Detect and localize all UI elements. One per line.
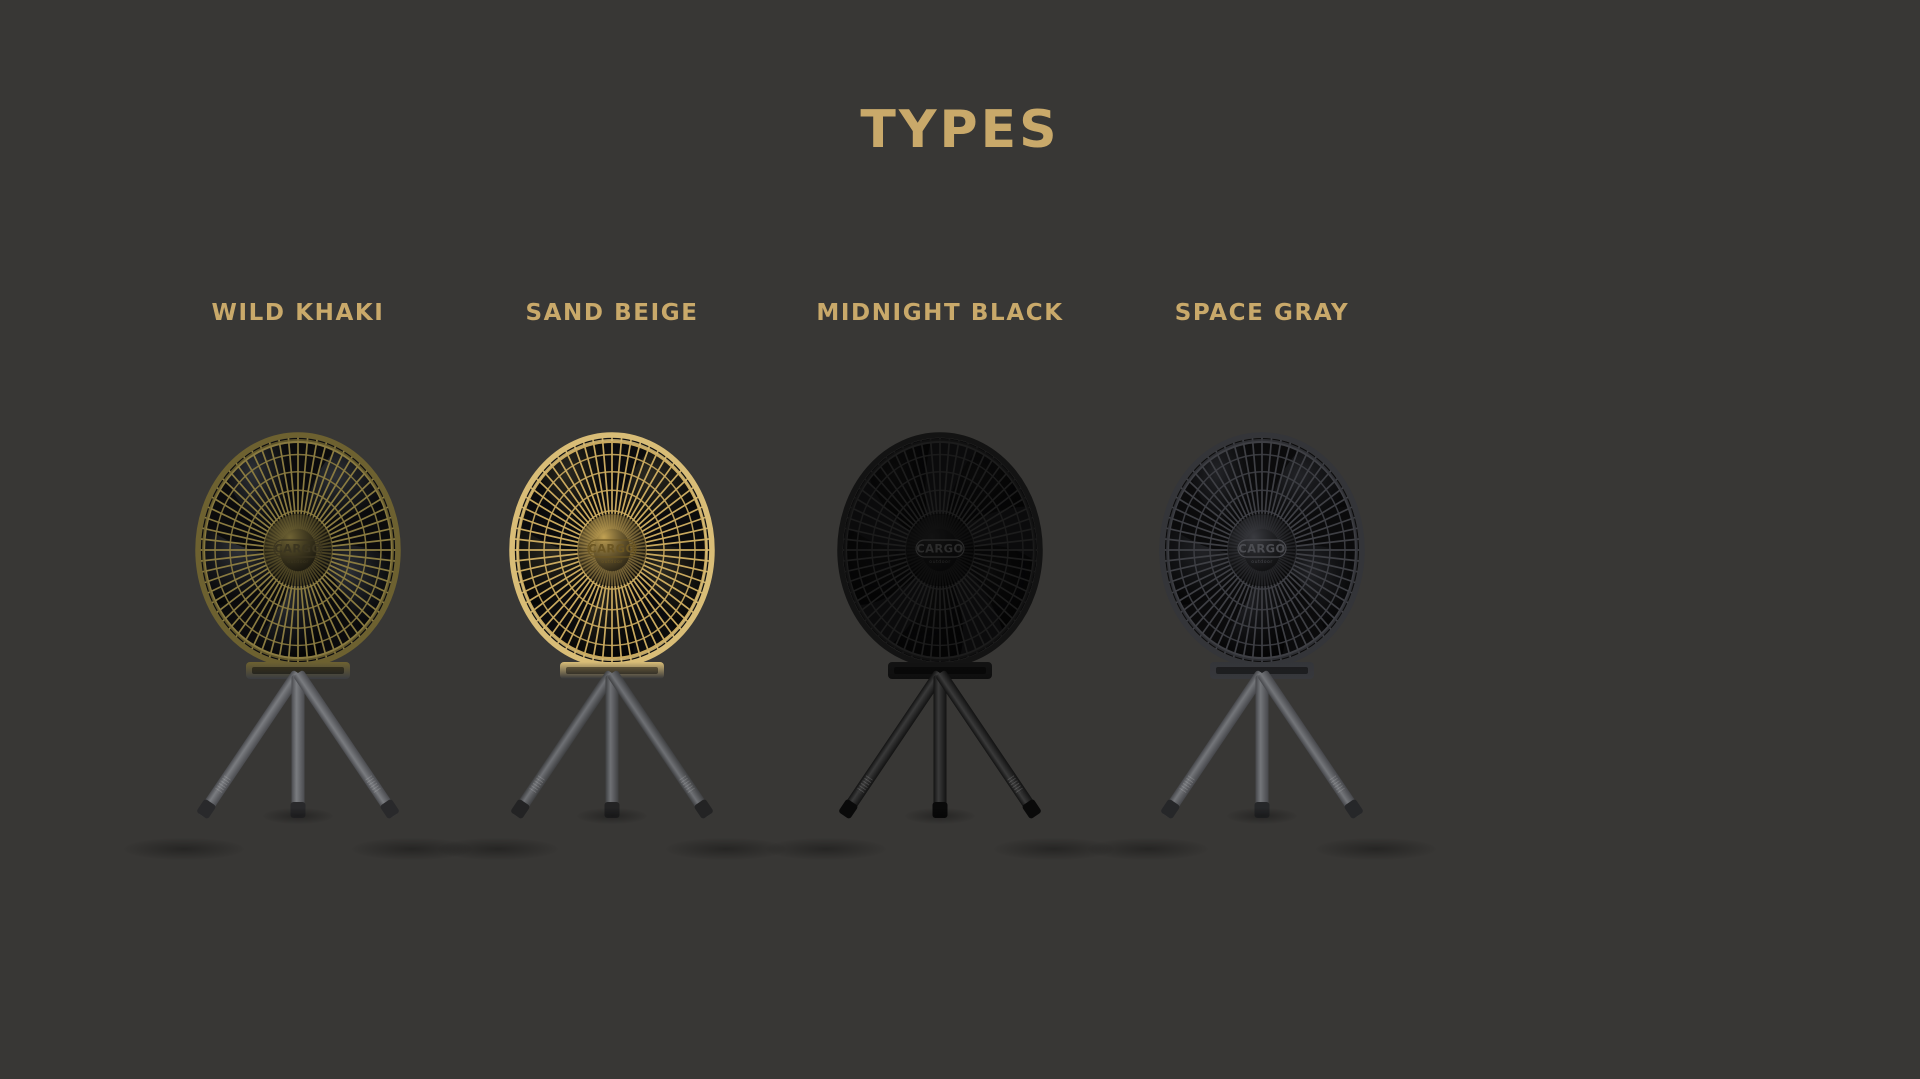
tripod-foot xyxy=(291,802,306,818)
fan-head: CARGOoutdoor xyxy=(834,430,1046,670)
hub-brand-subtext: outdoor xyxy=(287,559,308,565)
tripod-foot xyxy=(933,802,948,818)
tripod-leg-right xyxy=(607,670,713,819)
tripod-stand xyxy=(1112,673,1412,853)
tripod-foot xyxy=(379,798,400,819)
tripod-foot xyxy=(605,802,620,818)
fan-head: CARGOoutdoor xyxy=(192,430,404,670)
product-midnight-black[interactable]: CARGOoutdoor xyxy=(760,430,1120,910)
leg-grip-marking xyxy=(1007,775,1024,794)
tripod-stand xyxy=(462,673,762,853)
tripod-leg-center xyxy=(292,675,305,818)
slide-canvas: TYPES WILD KHAKISAND BEIGEMIDNIGHT BLACK… xyxy=(0,0,1920,1079)
hub-badge: CARGOoutdoor xyxy=(906,514,974,586)
fan-head: CARGOoutdoor xyxy=(1156,430,1368,670)
tripod-foot xyxy=(1160,798,1181,819)
tripod-foot xyxy=(1021,798,1042,819)
tripod-leg-left xyxy=(511,670,617,819)
tripod-leg-left xyxy=(1161,670,1267,819)
fan-head-graphic: CARGOoutdoor xyxy=(1156,430,1368,670)
tripod-foot xyxy=(693,798,714,819)
fan-head-graphic: CARGOoutdoor xyxy=(834,430,1046,670)
page-title: TYPES xyxy=(0,104,1920,156)
leg-grip-marking xyxy=(528,775,545,794)
product-wild-khaki[interactable]: CARGOoutdoor xyxy=(118,430,478,910)
tripod-leg-left xyxy=(197,670,303,819)
tripod-leg-right xyxy=(1257,670,1363,819)
hub-brand-subtext: outdoor xyxy=(929,559,950,565)
color-label-row: WILD KHAKISAND BEIGEMIDNIGHT BLACKSPACE … xyxy=(0,300,1920,334)
hub-brand-text: CARGO xyxy=(274,542,321,556)
hub-brand-subtext: outdoor xyxy=(1251,559,1272,565)
tripod-leg-center xyxy=(934,675,947,818)
hub-badge: CARGOoutdoor xyxy=(264,514,332,586)
fan-head: CARGOoutdoor xyxy=(506,430,718,670)
tripod-leg-right xyxy=(293,670,399,819)
leg-grip-marking xyxy=(214,775,231,794)
color-label-space-gray: SPACE GRAY xyxy=(1012,300,1512,326)
fan-head-graphic: CARGOoutdoor xyxy=(192,430,404,670)
tripod-foot xyxy=(838,798,859,819)
leg-grip-marking xyxy=(679,775,696,794)
product-space-gray[interactable]: CARGOoutdoor xyxy=(1082,430,1442,910)
hub-brand-text: CARGO xyxy=(1238,542,1285,556)
hub-brand-text: CARGO xyxy=(916,542,963,556)
tripod-leg-center xyxy=(606,675,619,818)
leg-grip-marking xyxy=(1329,775,1346,794)
tripod-foot xyxy=(1343,798,1364,819)
leg-grip-marking xyxy=(856,775,873,794)
tripod-foot xyxy=(196,798,217,819)
product-sand-beige[interactable]: CARGOoutdoor xyxy=(432,430,792,910)
tripod-leg-left xyxy=(839,670,945,819)
leg-grip-marking xyxy=(1178,775,1195,794)
hub-brand-subtext: outdoor xyxy=(601,559,622,565)
fan-head-graphic: CARGOoutdoor xyxy=(506,430,718,670)
leg-grip-marking xyxy=(365,775,382,794)
tripod-stand xyxy=(148,673,448,853)
tripod-leg-center xyxy=(1256,675,1269,818)
tripod-foot xyxy=(1255,802,1270,818)
hub-badge: CARGOoutdoor xyxy=(1228,514,1296,586)
tripod-stand xyxy=(790,673,1090,853)
hub-badge: CARGOoutdoor xyxy=(578,514,646,586)
tripod-foot xyxy=(510,798,531,819)
hub-brand-text: CARGO xyxy=(588,542,635,556)
tripod-leg-right xyxy=(935,670,1041,819)
